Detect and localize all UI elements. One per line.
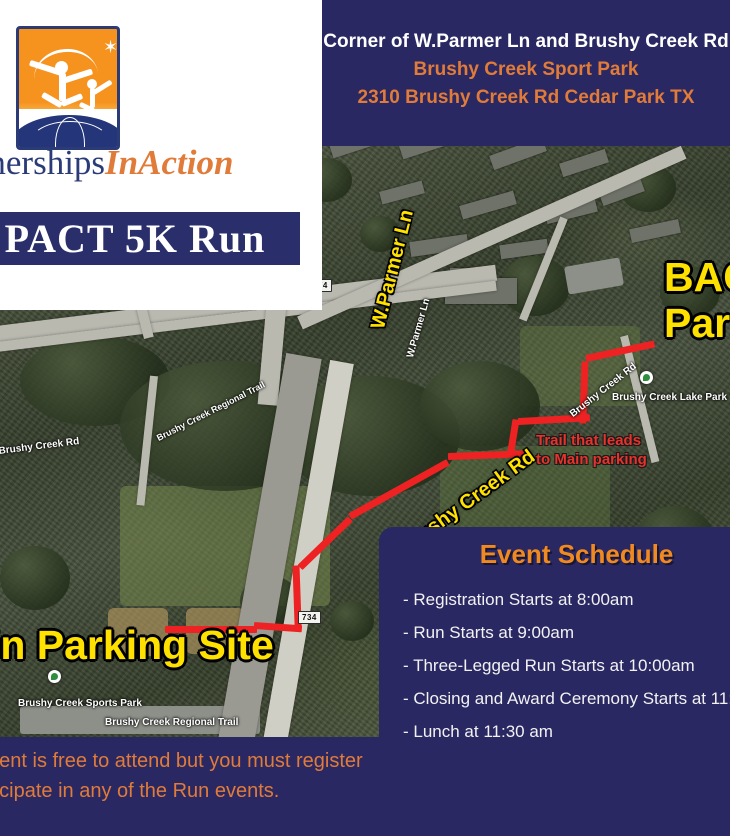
callout-trail-line2: to Main parking [536,450,647,469]
run-title-text: PACT 5K Run [0,212,300,265]
footer-line-1: The event is free to attend but you must… [0,746,438,776]
callout-trail-line1: Trail that leads [536,431,647,450]
map-building [329,146,376,158]
brand-wordmark: PartnershipsInAction [0,143,332,183]
map-parking-lot [564,257,624,294]
park-pin-sports-park [48,670,61,683]
brand-inaction: InAction [105,143,233,182]
map-label-w-parmer-ln: W.Parmer Ln [405,297,432,359]
map-building [629,219,681,243]
run-title-banner: PACT 5K Run [0,212,300,265]
callout-trail-to-main-parking: Trail that leads to Main parking [536,431,647,469]
schedule-item-run-start: - Run Starts at 9:00am [403,616,730,649]
map-label-brushy-creek-rd-left: Brushy Creek Rd [0,436,80,457]
footer-band: The event is free to attend but you must… [0,737,730,836]
map-building [489,146,547,170]
park-pin-lake-park [640,371,653,384]
callout-back-parking-line2: Parking [664,300,730,346]
header-line-corner: Corner of W.Parmer Ln and Brushy Creek R… [322,28,730,56]
map-building [559,149,609,177]
map-tree [330,601,374,641]
header-line-address: 2310 Brushy Creek Rd Cedar Park TX [322,84,730,112]
schedule-item-closing-ceremony: - Closing and Award Ceremony Starts at 1… [403,682,730,715]
callout-back-parking: BACK Parking [664,254,730,346]
schedule-item-three-legged-run: - Three-Legged Run Starts at 10:00am [403,649,730,682]
map-tree [0,546,70,610]
footer-registration-note: The event is free to attend but you must… [0,746,438,806]
map-building [399,146,451,159]
event-flyer: W.Parmer Ln Brushy Creek Rd W.Parmer Ln … [0,0,730,836]
event-schedule-list: - Registration Starts at 8:00am - Run St… [403,583,730,748]
map-tree [420,361,540,451]
callout-back-parking-line1: BACK [664,254,730,300]
schedule-item-registration: - Registration Starts at 8:00am [403,583,730,616]
event-schedule-panel: Event Schedule - Registration Starts at … [379,527,730,737]
partnerships-in-action-logo-icon: ✶ [16,26,120,150]
brand-partnerships: Partnerships [0,143,105,182]
highway-shield-734-upper: 734 [298,611,321,624]
header-address-block: Corner of W.Parmer Ln and Brushy Creek R… [322,28,730,112]
callout-main-parking-site: Main Parking Site [0,622,274,668]
map-building [379,181,425,205]
logo-panel: ✶ PartnershipsInAction PACT 5K Run [0,0,322,310]
event-schedule-title: Event Schedule [379,539,730,570]
header-line-venue: Brushy Creek Sport Park [322,56,730,84]
footer-line-2: to participate in any of the Run events. [0,776,438,806]
map-building [459,191,517,220]
